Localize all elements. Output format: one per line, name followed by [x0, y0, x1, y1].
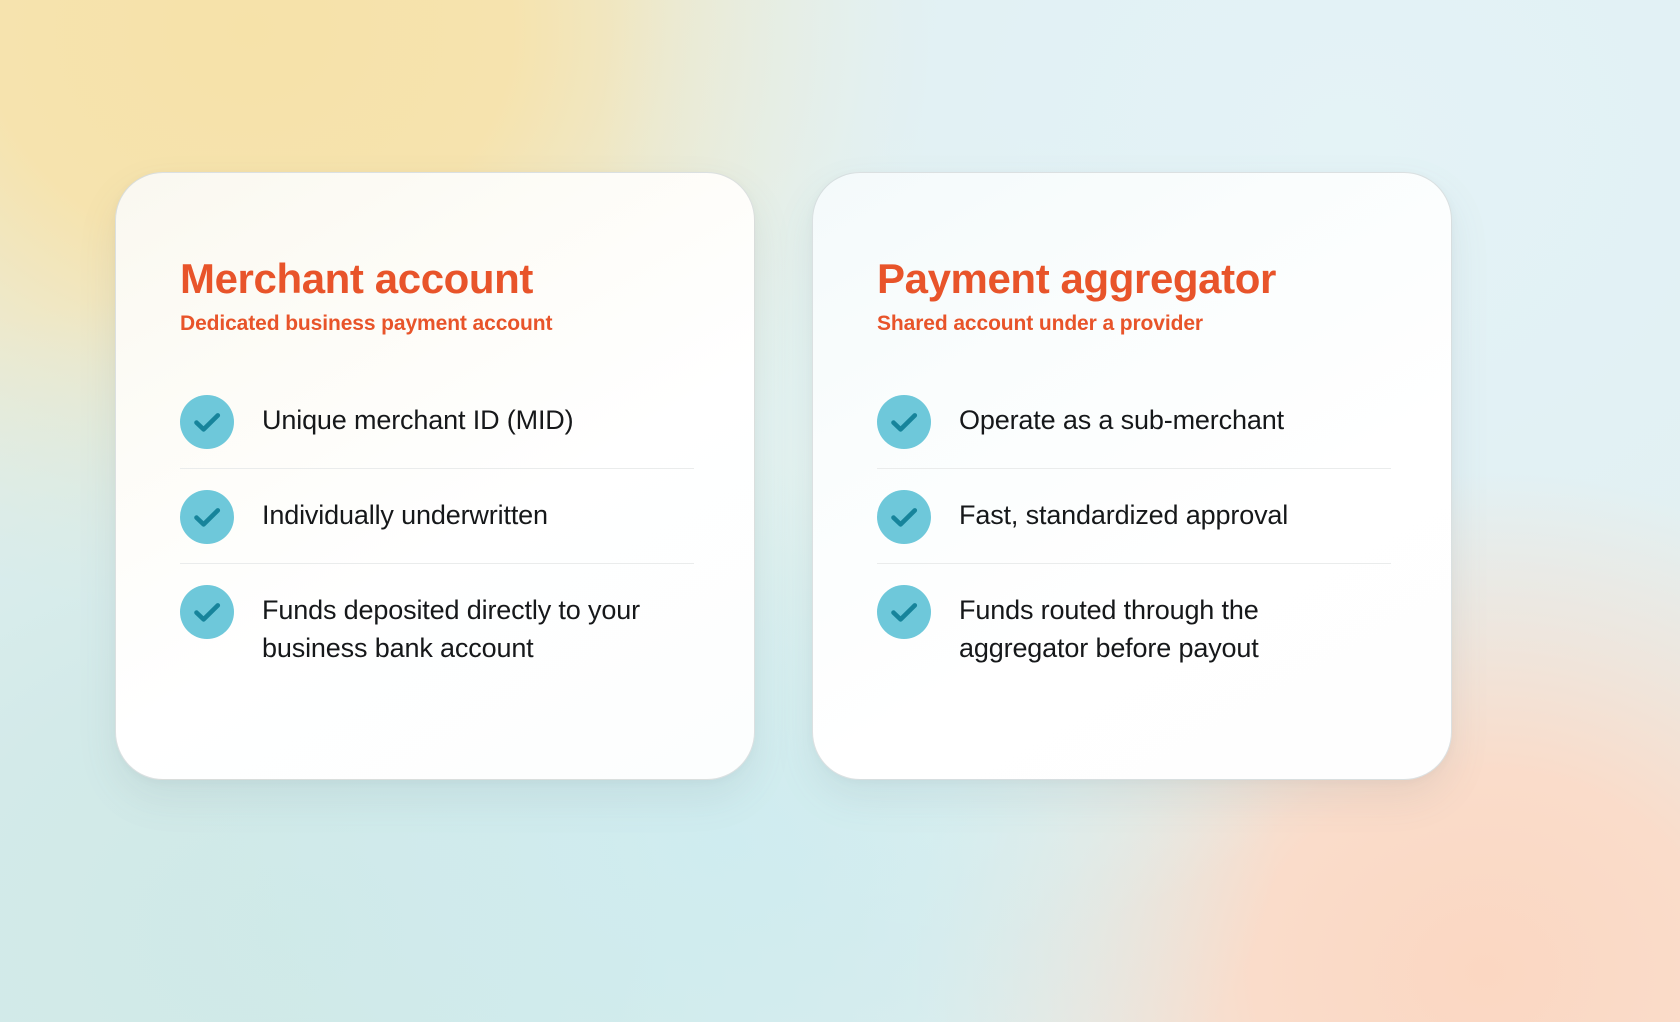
feature-label: Unique merchant ID (MID): [262, 394, 574, 439]
check-icon: [180, 395, 234, 449]
list-item: Individually underwritten: [180, 469, 694, 564]
feature-label: Fast, standardized approval: [959, 489, 1288, 534]
check-icon: [877, 490, 931, 544]
check-icon: [180, 490, 234, 544]
feature-label: Funds routed through the aggregator befo…: [959, 584, 1391, 668]
card-subtitle: Shared account under a provider: [877, 312, 1391, 336]
card-merchant-account: Merchant account Dedicated business paym…: [115, 172, 755, 780]
list-item: Funds deposited directly to your busines…: [180, 564, 694, 687]
list-item: Fast, standardized approval: [877, 469, 1391, 564]
feature-label: Individually underwritten: [262, 489, 548, 534]
feature-label: Operate as a sub-merchant: [959, 394, 1284, 439]
feature-list: Unique merchant ID (MID) Individually un…: [180, 374, 694, 687]
check-icon: [877, 395, 931, 449]
card-title: Merchant account: [180, 257, 694, 301]
check-icon: [877, 585, 931, 639]
list-item: Funds routed through the aggregator befo…: [877, 564, 1391, 687]
list-item: Unique merchant ID (MID): [180, 374, 694, 469]
list-item: Operate as a sub-merchant: [877, 374, 1391, 469]
card-payment-aggregator: Payment aggregator Shared account under …: [812, 172, 1452, 780]
check-icon: [180, 585, 234, 639]
card-subtitle: Dedicated business payment account: [180, 312, 694, 336]
feature-list: Operate as a sub-merchant Fast, standard…: [877, 374, 1391, 687]
feature-label: Funds deposited directly to your busines…: [262, 584, 694, 668]
comparison-cards-container: Merchant account Dedicated business paym…: [115, 172, 1453, 780]
card-title: Payment aggregator: [877, 257, 1391, 301]
